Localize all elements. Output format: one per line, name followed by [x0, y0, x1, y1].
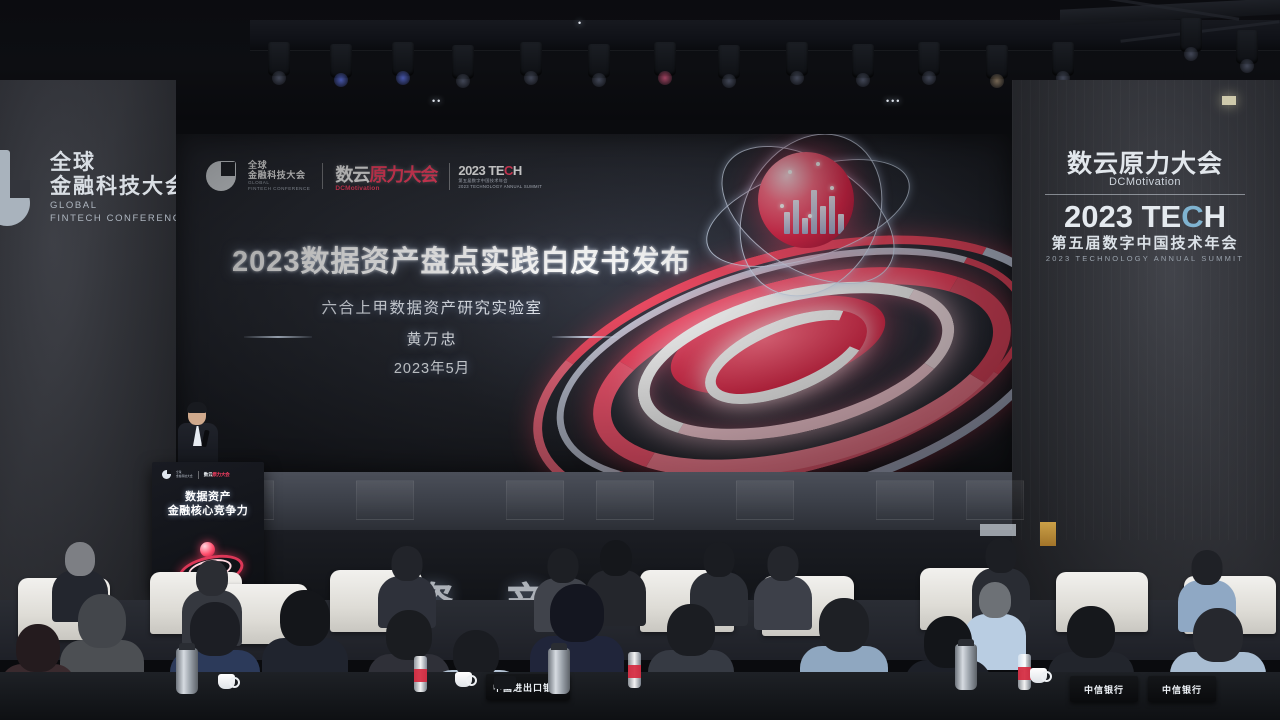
slide-title: 2023数据资产盘点实践白皮书发布 [232, 244, 632, 280]
tech-year: 2023 TE [1064, 199, 1181, 234]
right-wall-en: DCMotivation [1020, 176, 1270, 188]
audience-head [392, 546, 423, 581]
podium-title: 数据资产 金融核心竞争力 [152, 490, 264, 519]
stage-light [1180, 18, 1202, 52]
slide-gfc-cn1: 全球 [248, 160, 310, 170]
global-fintech-logo-icon [162, 470, 171, 479]
audience-head [453, 630, 499, 678]
tech-tail-h: H [1204, 199, 1226, 234]
nameplate: 中信银行 [1148, 676, 1216, 702]
left-wall-cn-line1: 全球 [50, 151, 189, 175]
audience-head [1067, 606, 1115, 658]
audience-head [78, 594, 126, 648]
left-wall-en-line1: GLOBAL [50, 199, 189, 212]
audience-head [1193, 608, 1243, 662]
core-disc [661, 277, 895, 414]
audience-head [600, 540, 632, 576]
slide-logo-strip: 全球 金融科技大会 GLOBAL FINTECH CONFERENCE 数云原力… [206, 160, 542, 192]
right-wall-tech-line: 2023 TECH [1020, 200, 1270, 234]
right-wall-cn-light: 原力大会 [1119, 150, 1223, 178]
stage-light [1236, 30, 1258, 64]
podium-logo-strip: 全球 金融科技大会 数云原力大会 [162, 470, 230, 479]
audience-head [280, 590, 330, 646]
tea-cup [218, 674, 235, 689]
right-wall-en-sub: 2023 TECHNOLOGY ANNUAL SUMMIT [1020, 254, 1270, 263]
stage-light [654, 42, 676, 76]
audience-head [768, 546, 799, 581]
right-wall-branding: 数云原力大会 DCMotivation 2023 TECH 第五届数字中国技术年… [1020, 150, 1270, 263]
audience-head [196, 560, 228, 596]
right-wall-cn-sub: 第五届数字中国技术年会 [1020, 234, 1270, 254]
slide-sy-dark: 数云 [335, 165, 369, 185]
stage-light [718, 45, 740, 79]
audience-head [16, 624, 60, 672]
nameplate-label: 中信银行 [1084, 683, 1124, 696]
slide-date: 2023年5月 [232, 357, 632, 378]
right-wall-panel-texture [1012, 80, 1280, 540]
stage-light [918, 42, 940, 76]
speaker-person [176, 404, 220, 468]
audience-head [550, 584, 604, 642]
stage-light [520, 42, 542, 76]
podium-shuyun-logo: 数云原力大会 [204, 472, 230, 478]
main-led-screen: 全球 金融科技大会 GLOBAL FINTECH CONFERENCE 数云原力… [176, 134, 1012, 472]
slide-tech-tail: H [513, 163, 522, 178]
apron-panel [506, 480, 564, 520]
sphere-glint [788, 170, 792, 174]
audience-head [190, 602, 240, 656]
podium-logo-divider [198, 471, 199, 479]
left-wall-cn-line2: 金融科技大会 [50, 175, 189, 199]
slide-sy-accent: 原力大会 [369, 165, 437, 185]
sphere-orbit-2 [697, 134, 918, 313]
slide-gfc-en2: FINTECH CONFERENCE [248, 186, 310, 192]
slide-gfc-cn2: 金融科技大会 [248, 170, 310, 180]
sphere-orbit-3 [712, 134, 910, 322]
podium-gfc-cn2: 金融科技大会 [176, 475, 193, 478]
right-wall-cn-dark: 数云 [1067, 150, 1119, 178]
tea-cup [1030, 668, 1047, 683]
city-skyline-icon [784, 190, 844, 234]
slide-subtitle: 六合上甲数据资产研究实验室 [232, 296, 632, 318]
stage-light [986, 45, 1008, 79]
apron-panel [876, 480, 934, 520]
audience-head [979, 582, 1011, 618]
slide-speaker-row: 黄万忠 [232, 327, 632, 347]
sphere-glint [816, 162, 820, 166]
left-wall-branding: 全球 金融科技大会 GLOBAL FINTECH CONFERENCE [0, 150, 189, 226]
stage-light [588, 44, 610, 78]
apron-panel [966, 480, 1024, 520]
tea-cup [455, 672, 472, 687]
global-fintech-logo-icon [206, 161, 236, 191]
audience-head [819, 598, 869, 652]
globe-sphere-icon [758, 152, 854, 248]
apron-panel [596, 480, 654, 520]
slide-shuyun-title: 数云原力大会 [335, 161, 437, 187]
thermos-flask [548, 648, 570, 694]
stage-light [1052, 42, 1074, 76]
logo-divider [322, 163, 323, 189]
sphere-glint [780, 204, 784, 208]
podium-sy-accent: 原力大会 [212, 472, 229, 477]
podium-title-line1: 数据资产 [152, 490, 264, 504]
apron-panel [736, 480, 794, 520]
tech-accent-c: C [1181, 199, 1203, 234]
nameplate-label: 中信银行 [1162, 683, 1202, 696]
stage-light [330, 44, 352, 78]
right-wall-divider [1045, 194, 1245, 195]
spiral-galaxy-graphic [576, 142, 1012, 472]
slide-text-block: 2023数据资产盘点实践白皮书发布 六合上甲数据资产研究实验室 黄万忠 2023… [232, 244, 632, 378]
slide-tech-badge: 2023 TECH 第五届数字中国技术年会 2023 TECHNOLOGY AN… [449, 163, 542, 190]
slide-rule-right [552, 336, 620, 338]
ceiling-speckle: ••• [886, 96, 901, 106]
core-ring [622, 253, 971, 469]
nameplate: 中信银行 [1070, 676, 1138, 702]
global-fintech-logo-icon [0, 150, 38, 226]
slide-speaker-name: 黄万忠 [232, 328, 632, 349]
wall-light [1222, 96, 1236, 105]
stage-light [786, 42, 808, 76]
ceiling-speckle: • [578, 18, 583, 28]
thermos-flask [955, 644, 977, 690]
left-wall-en-line2: FINTECH CONFERENCE [50, 212, 189, 225]
right-wall-title: 数云原力大会 [1020, 150, 1270, 178]
stage-light [852, 44, 874, 78]
stage-light [452, 45, 474, 79]
podium-title-line2: 金融核心竞争力 [152, 504, 264, 519]
audience-head [386, 610, 432, 660]
slide-tech-year: 2023 TECH [458, 163, 542, 178]
conference-stage-photo: •• •• • ••• 全球 金融科技大会 GLOBAL FINTECH CON… [0, 0, 1280, 720]
slide-tech-en: 2023 TECHNOLOGY ANNUAL SUMMIT [458, 184, 542, 190]
audience-head [548, 548, 579, 583]
audience-head [65, 542, 95, 576]
thermos-flask [176, 648, 198, 694]
speaker-hair [187, 402, 207, 413]
audience-head [704, 542, 735, 577]
ceiling-speckle: •• [432, 96, 442, 106]
audience-head [986, 538, 1017, 573]
slide-tech-main: 2023 TE [458, 163, 504, 178]
audience-head [667, 604, 715, 656]
desk-microphone-base [494, 676, 516, 689]
apron-panel [356, 480, 414, 520]
sphere-glint [808, 214, 812, 218]
water-bottle [628, 652, 641, 688]
sphere-glint [830, 186, 834, 190]
sphere-orbit-1 [693, 137, 922, 288]
water-bottle [414, 656, 427, 692]
core-swirl-icon [692, 290, 879, 423]
slide-tech-accent: C [504, 163, 513, 178]
stage-light [268, 42, 290, 76]
stage-light [392, 42, 414, 76]
audience-head [1192, 550, 1223, 585]
